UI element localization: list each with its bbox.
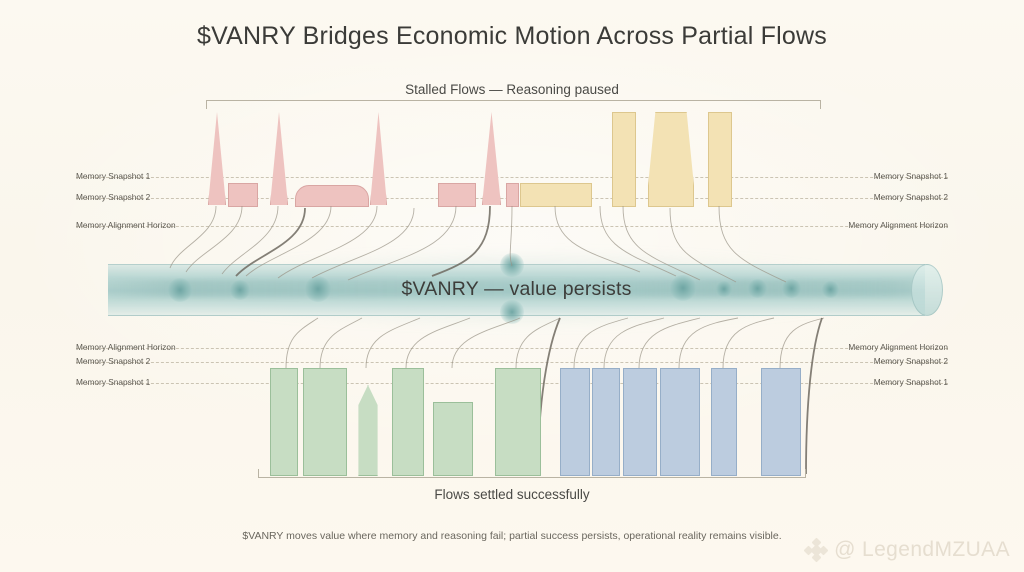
bottom-bracket xyxy=(258,468,806,478)
page-title: $VANRY Bridges Economic Motion Across Pa… xyxy=(0,22,1024,51)
pipe-node xyxy=(305,276,331,302)
label-top-left-alignment: Memory Alignment Horizon xyxy=(76,220,176,230)
bar-pending-block xyxy=(520,183,592,207)
label-bottom-left-alignment: Memory Alignment Horizon xyxy=(76,342,176,352)
bar-persisted-block xyxy=(761,368,801,476)
pipe-node xyxy=(782,279,801,298)
pipe-node xyxy=(822,281,839,298)
label-bottom-left-snapshot2: Memory Snapshot 2 xyxy=(76,356,150,366)
label-top-left-snapshot1: Memory Snapshot 1 xyxy=(76,171,150,181)
pipe-node xyxy=(748,279,767,298)
label-top-right-snapshot1: Memory Snapshot 1 xyxy=(874,171,948,181)
bar-stalled-block xyxy=(506,183,519,207)
bar-settled-block xyxy=(495,368,541,476)
pipe-node xyxy=(230,280,250,300)
bar-pending-tall xyxy=(612,112,636,207)
pipe-node xyxy=(500,300,524,324)
label-bottom-right-snapshot1: Memory Snapshot 1 xyxy=(874,377,948,387)
horizon-line-top-snapshot1 xyxy=(76,177,948,178)
bar-settled-block xyxy=(392,368,424,476)
bar-pending-funnel xyxy=(648,112,694,207)
bar-settled-block xyxy=(303,368,347,476)
bar-settled-peak xyxy=(352,385,384,476)
diamond-logo-icon xyxy=(805,539,827,561)
watermark-handle: @ LegendMZUAA xyxy=(834,538,1010,562)
label-top-left-snapshot2: Memory Snapshot 2 xyxy=(76,192,150,202)
bar-persisted-block xyxy=(623,368,657,476)
bar-persisted-block xyxy=(660,368,700,476)
top-bracket xyxy=(206,100,821,110)
infographic-canvas: $VANRY Bridges Economic Motion Across Pa… xyxy=(0,0,1024,572)
bar-stalled-spike xyxy=(270,112,288,205)
bar-persisted-block xyxy=(711,368,737,476)
label-bottom-right-snapshot2: Memory Snapshot 2 xyxy=(874,356,948,366)
bottom-section-label: Flows settled successfully xyxy=(0,487,1024,502)
pipe-node xyxy=(168,278,192,302)
bar-persisted-block xyxy=(592,368,620,476)
horizon-line-top-alignment xyxy=(76,226,948,227)
bar-settled-block xyxy=(433,402,473,476)
bar-stalled-spike xyxy=(370,112,387,205)
bar-persisted-block xyxy=(560,368,590,476)
label-top-right-alignment: Memory Alignment Horizon xyxy=(848,220,948,230)
pipe-node xyxy=(716,281,732,297)
bar-stalled-block xyxy=(228,183,258,207)
bar-settled-block xyxy=(270,368,298,476)
bar-stalled-spike xyxy=(208,112,226,205)
label-bottom-right-alignment: Memory Alignment Horizon xyxy=(848,342,948,352)
pipe-node xyxy=(500,253,524,277)
bar-pending-tall xyxy=(708,112,732,207)
watermark: @ LegendMZUAA xyxy=(805,538,1010,562)
top-section-label: Stalled Flows — Reasoning paused xyxy=(0,82,1024,97)
bar-stalled-plateau xyxy=(295,185,369,207)
bar-stalled-block xyxy=(438,183,476,207)
label-bottom-left-snapshot1: Memory Snapshot 1 xyxy=(76,377,150,387)
horizon-line-bottom-alignment xyxy=(76,348,948,349)
pipe-node xyxy=(670,275,696,301)
horizon-line-bottom-snapshot2 xyxy=(76,362,948,363)
bar-stalled-spike xyxy=(482,112,501,205)
label-top-right-snapshot2: Memory Snapshot 2 xyxy=(874,192,948,202)
